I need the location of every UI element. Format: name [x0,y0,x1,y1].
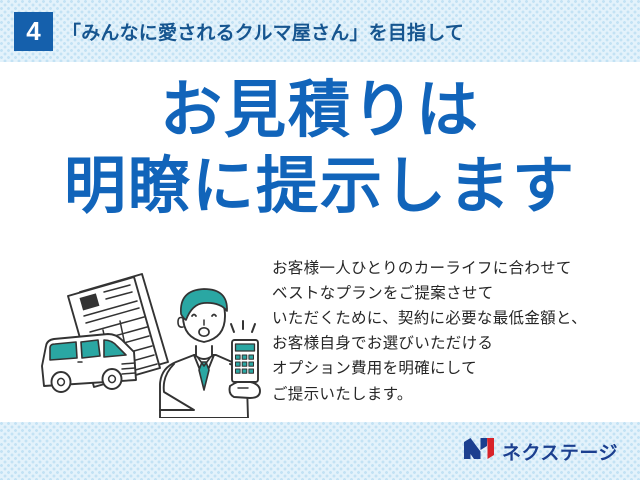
n-mark-icon [463,437,495,465]
body-line-3: いただくために、契約に必要な最低金額と、 [272,306,587,331]
teal-van [42,334,136,392]
body-line-1: お客様一人ひとりのカーライフに合わせて [272,256,587,281]
body-line-6: ご提示いたします。 [272,382,587,407]
body-line-2: ベストなプランをご提案させて [272,281,587,306]
body-copy: お客様一人ひとりのカーライフに合わせて ベストなプランをご提案させて いただくた… [272,256,587,407]
headline-line-2: 明瞭に提示します [0,156,640,218]
logo-text: ネクステージ [502,438,618,465]
header-title: 「みんなに愛されるクルマ屋さん」を目指して [62,18,464,45]
body-line-5: オプション費用を明確にして [272,356,587,381]
promo-slide: 4 「みんなに愛されるクルマ屋さん」を目指して お見積りは 明瞭に提示します お… [0,0,640,480]
sparkle-marks [231,321,255,332]
nextage-logo: ネクステージ [463,437,618,465]
headline-line-1: お見積りは [0,80,640,142]
calculator [232,340,258,382]
body-line-4: お客様自身でお選びいただける [272,331,587,356]
step-number-badge: 4 [14,12,53,51]
salesman-quote-illustration [34,258,266,418]
headline: お見積りは 明瞭に提示します [0,80,640,218]
